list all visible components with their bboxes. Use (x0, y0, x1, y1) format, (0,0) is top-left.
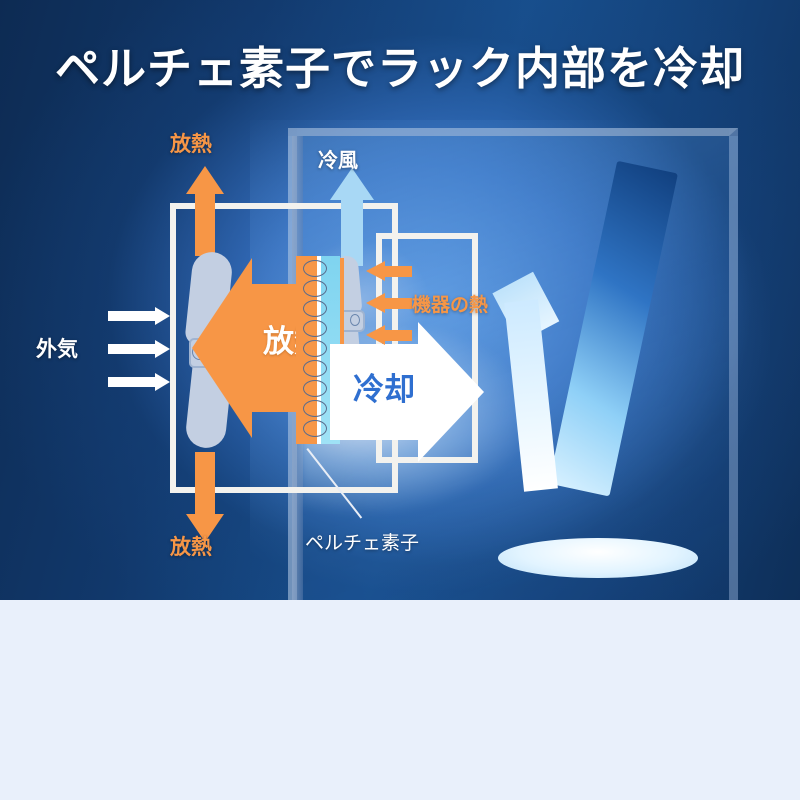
outside-air-arrow-icon (108, 307, 170, 323)
peltier-cell-dot (303, 380, 327, 397)
air-duct-top-wall (376, 233, 478, 239)
heat-up-label: 放熱 (170, 128, 212, 158)
device-heat-label: 機器の熱 (412, 290, 488, 317)
peltier-cell-dot (303, 300, 327, 317)
peltier-cell-dot (303, 400, 327, 417)
peltier-label: ペルチェ素子 (305, 528, 419, 555)
peltier-cell-dot (303, 360, 327, 377)
peltier-cell-dot (303, 340, 327, 357)
infographic-canvas: 放熱 冷却 (0, 0, 800, 800)
peltier-cell-dot (303, 420, 327, 437)
heat-down-arrow-icon (186, 452, 224, 542)
peltier-cell-dot (303, 320, 327, 337)
heat-down-label: 放熱 (170, 531, 212, 561)
cooling-arrow-label: 冷却 (334, 364, 434, 409)
device-heat-arrow-icon (366, 293, 412, 313)
monitor-base (498, 538, 698, 578)
page-title: ペルチェ素子でラック内部を冷却 (0, 32, 800, 97)
cool-air-arrow-icon (330, 168, 374, 266)
outside-air-label: 外気 (36, 333, 78, 363)
cool-air-label: 冷風 (318, 144, 358, 173)
device-heat-arrow-icon (366, 261, 412, 281)
merit-panel: ペルチェ素子の メリット 振動が 少ない 静 音 省エネ (0, 600, 800, 800)
outside-air-arrow-icon (108, 373, 170, 389)
device-heat-arrow-icon (366, 325, 412, 345)
outside-air-arrow-icon (108, 340, 170, 356)
peltier-cell-dot (303, 260, 327, 277)
peltier-cell-dot (303, 280, 327, 297)
heat-up-arrow-icon (186, 166, 224, 256)
hero-diagram: 放熱 冷却 (0, 0, 800, 600)
